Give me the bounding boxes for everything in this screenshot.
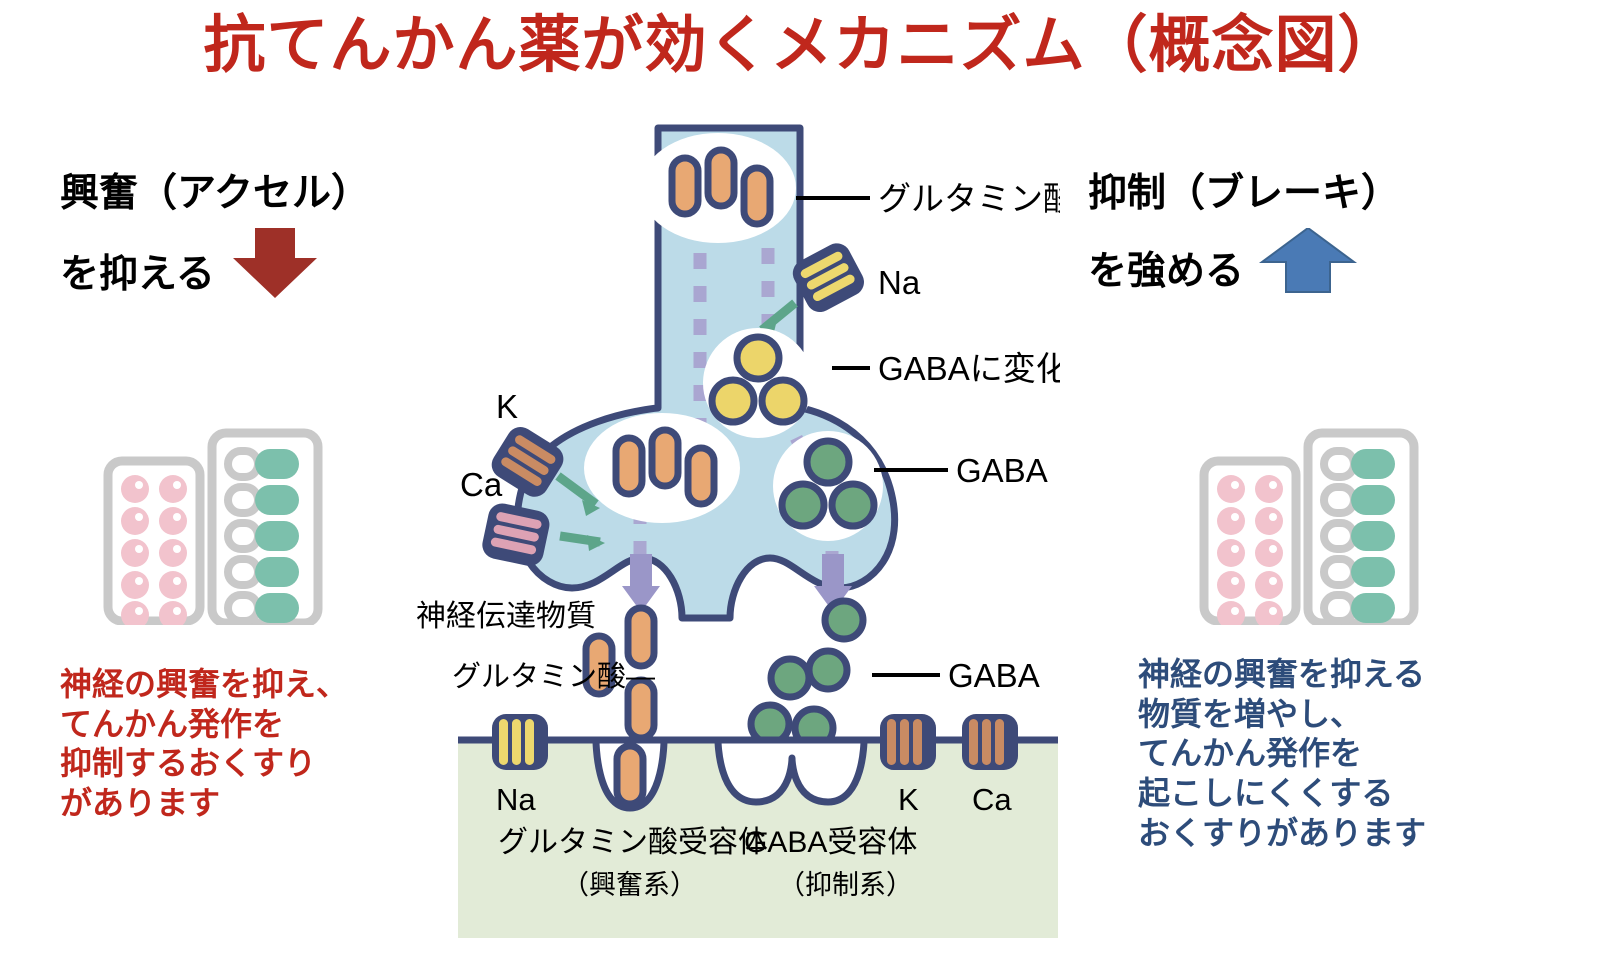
- label-gaba-cleft: GABA: [948, 657, 1040, 694]
- gaba-conversion-vesicle: [703, 328, 813, 438]
- left-heading-line2: を抑える: [60, 241, 215, 309]
- label-glutamate-cleft: グルタミン酸—: [452, 660, 655, 693]
- left-panel-heading: 興奮（アクセル） を抑える: [60, 160, 370, 323]
- label-k-channel: K: [496, 388, 518, 425]
- label-gaba-conversion: GABAに変化: [878, 350, 1060, 387]
- left-heading-line1: 興奮（アクセル）: [60, 160, 370, 228]
- glutamate-vesicle-axon: [640, 133, 796, 243]
- label-glutamate-receptor: グルタミン酸受容体: [498, 826, 768, 859]
- gaba-vesicle-terminal: [773, 431, 883, 541]
- label-postsynaptic-ca: Ca: [972, 782, 1012, 817]
- right-heading-line1: 抑制（ブレーキ）: [1088, 160, 1400, 228]
- label-gaba-receptor: GABA受容体: [744, 826, 917, 859]
- label-ca-channel: Ca: [460, 466, 503, 503]
- right-panel-caption: 神経の興奮を抑える 物質を増やし、 てんかん発作を 起こしにくくする おくすりが…: [1138, 655, 1426, 853]
- label-gaba-vesicle: GABA: [956, 452, 1048, 489]
- page-title: 抗てんかん薬が効くメカニズム（概念図）: [0, 12, 1604, 80]
- label-postsynaptic-na: Na: [496, 782, 536, 817]
- right-heading-line2: を強める: [1088, 238, 1244, 306]
- diagram-canvas: 抗てんかん薬が効くメカニズム（概念図） 興奮（アクセル） を抑える 抑制（ブレー…: [0, 0, 1604, 954]
- right-panel-heading: 抑制（ブレーキ） を強める: [1088, 160, 1400, 317]
- left-panel-caption: 神経の興奮を抑え、 てんかん発作を 抑制するおくすり があります: [60, 665, 348, 824]
- glutamate-bound-receptor: [617, 746, 643, 804]
- ca-channel-postsynaptic: [962, 714, 1018, 770]
- right-medicine-packs: [1196, 425, 1426, 630]
- pink-tablet-blister-pack: [108, 461, 200, 625]
- label-glutamate-receptor-sub: （興奮系）: [562, 870, 697, 900]
- glutamate-vesicle-terminal: [584, 413, 740, 523]
- label-postsynaptic-k: K: [898, 782, 919, 817]
- green-capsule-blister-pack: [212, 433, 318, 623]
- down-arrow-icon: [229, 228, 321, 322]
- synapse-diagram: グルタミン酸 Na GABAに変化 GABA K Ca 神経伝達物質 グルタミン…: [400, 118, 1060, 943]
- na-channel-postsynaptic: [492, 714, 548, 770]
- green-capsule-blister-pack: [1308, 433, 1414, 623]
- k-channel-postsynaptic: [880, 714, 936, 770]
- label-gaba-receptor-sub: （抑制系）: [778, 870, 913, 900]
- left-medicine-packs: [100, 425, 330, 630]
- up-arrow-icon: [1258, 228, 1358, 316]
- label-glutamate-axon: グルタミン酸: [878, 180, 1060, 217]
- gaba-in-cleft: [751, 601, 863, 747]
- label-na-channel: Na: [878, 264, 921, 301]
- label-neurotransmitter: 神経伝達物質: [416, 600, 596, 633]
- pink-tablet-blister-pack: [1204, 461, 1296, 625]
